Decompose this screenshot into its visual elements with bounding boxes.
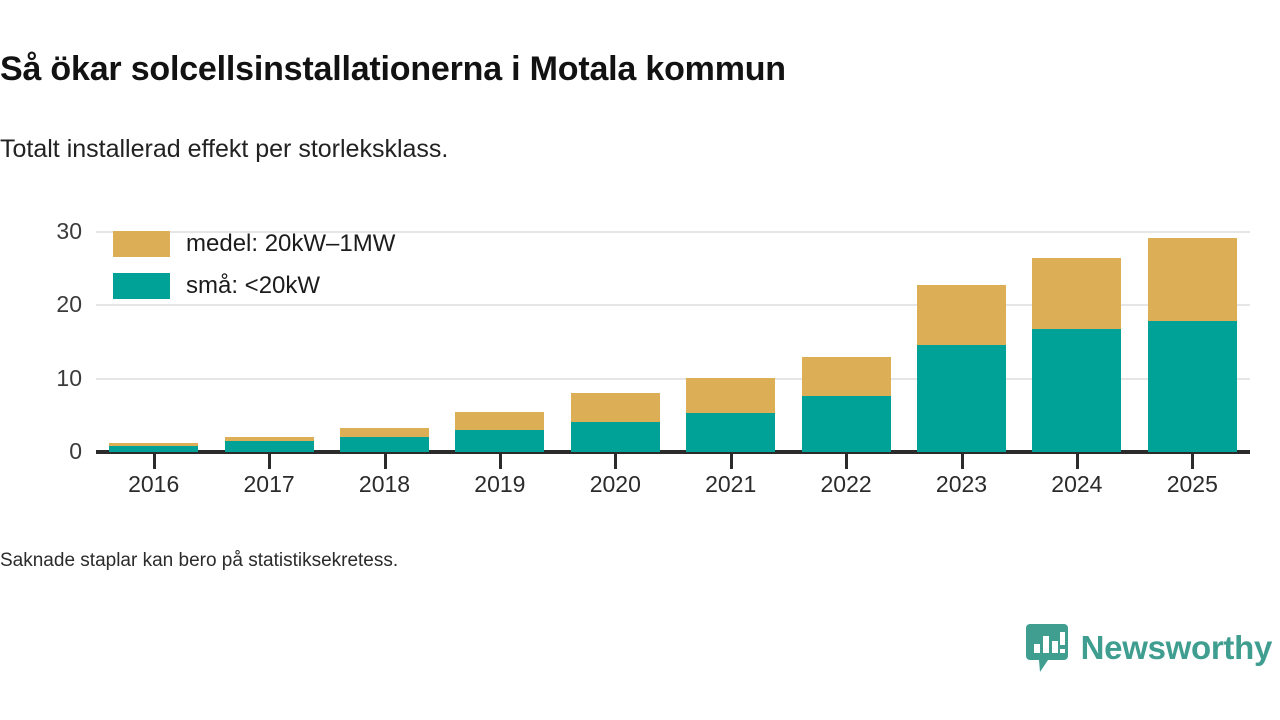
chart-legend: medel: 20kW–1MWsmå: <20kW [113, 230, 395, 300]
x-axis-tick-label-2023: 2023 [902, 470, 1022, 498]
bar-segment[interactable] [802, 357, 891, 397]
bar-group-2016[interactable] [109, 443, 198, 452]
bar-group-2018[interactable] [340, 428, 429, 452]
x-axis-tick [153, 454, 156, 469]
x-axis-tick [614, 454, 617, 469]
bar-segment[interactable] [1032, 329, 1121, 452]
bar-segment[interactable] [1148, 238, 1237, 321]
bar-segment[interactable] [571, 422, 660, 452]
x-axis: 2016201720182019202020212022202320242025 [0, 452, 1280, 502]
x-axis-tick [384, 454, 387, 469]
x-axis-tick-label-2020: 2020 [555, 470, 675, 498]
bar-segment[interactable] [1148, 321, 1237, 452]
page-title: Så ökar solcellsinstallationerna i Motal… [0, 49, 1240, 89]
page-subtitle: Totalt installerad effekt per storlekskl… [0, 133, 1240, 165]
x-axis-tick [268, 454, 271, 469]
bar-group-2023[interactable] [917, 285, 1006, 452]
bar-segment[interactable] [571, 393, 660, 422]
bar-segment[interactable] [455, 412, 544, 430]
bar-group-2022[interactable] [802, 357, 891, 452]
bar-segment[interactable] [917, 345, 1006, 452]
bar-segment[interactable] [802, 396, 891, 452]
bar-group-2021[interactable] [686, 378, 775, 452]
legend-item-1[interactable]: små: <20kW [113, 272, 395, 300]
legend-swatch [113, 273, 170, 299]
bar-segment[interactable] [917, 285, 1006, 345]
x-axis-tick [1191, 454, 1194, 469]
bar-group-2025[interactable] [1148, 238, 1237, 452]
bar-segment[interactable] [455, 430, 544, 452]
newsworthy-logo: Newsworthy [1026, 624, 1272, 672]
bar-group-2020[interactable] [571, 393, 660, 452]
bar-segment[interactable] [1032, 258, 1121, 329]
x-axis-tick-label-2024: 2024 [1017, 470, 1137, 498]
x-axis-tick-label-2022: 2022 [786, 470, 906, 498]
bar-group-2019[interactable] [455, 412, 544, 452]
x-axis-tick-label-2021: 2021 [671, 470, 791, 498]
legend-swatch [113, 231, 170, 257]
x-axis-tick [1076, 454, 1079, 469]
bar-chart-speech-bubble-icon [1026, 624, 1068, 672]
bar-segment[interactable] [686, 413, 775, 452]
x-axis-tick [499, 454, 502, 469]
bar-segment[interactable] [686, 378, 775, 413]
legend-label: små: <20kW [186, 273, 320, 299]
bar-group-2017[interactable] [225, 437, 314, 452]
x-axis-tick [845, 454, 848, 469]
bar-segment[interactable] [340, 437, 429, 452]
bar-segment[interactable] [340, 428, 429, 438]
x-axis-tick-label-2017: 2017 [209, 470, 329, 498]
logo-wordmark: Newsworthy [1081, 631, 1272, 665]
x-axis-tick-label-2019: 2019 [440, 470, 560, 498]
bar-segment[interactable] [225, 441, 314, 452]
x-axis-tick [730, 454, 733, 469]
legend-label: medel: 20kW–1MW [186, 231, 395, 257]
x-axis-tick-label-2025: 2025 [1132, 470, 1252, 498]
x-axis-tick [961, 454, 964, 469]
x-axis-tick-label-2016: 2016 [94, 470, 214, 498]
legend-item-0[interactable]: medel: 20kW–1MW [113, 230, 395, 258]
x-axis-tick-label-2018: 2018 [325, 470, 445, 498]
chart-page: Så ökar solcellsinstallationerna i Motal… [0, 0, 1280, 720]
footnote: Saknade staplar kan bero på statistiksek… [0, 548, 398, 574]
bar-group-2024[interactable] [1032, 258, 1121, 452]
